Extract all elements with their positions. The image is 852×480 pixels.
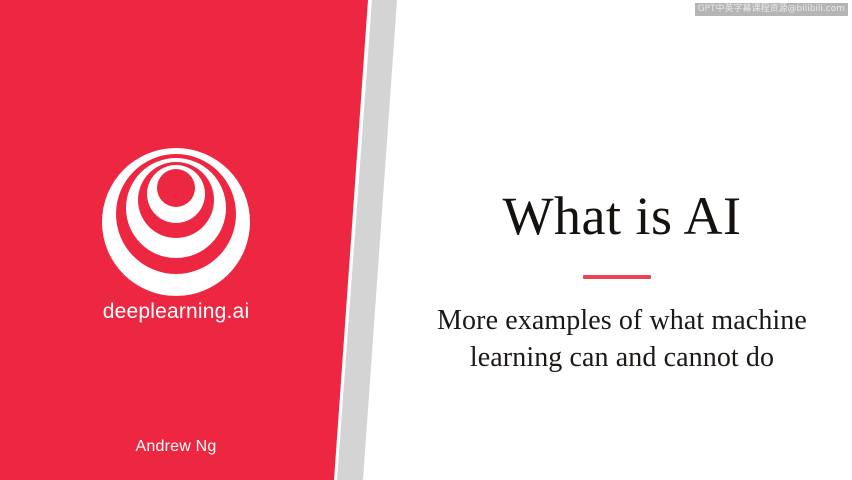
presenter-name: Andrew Ng — [0, 438, 352, 456]
slide-title: What is AI — [392, 188, 852, 245]
brand-panel: deeplearning.ai Andrew Ng — [0, 0, 352, 480]
presentation-slide: deeplearning.ai Andrew Ng What is AI Mor… — [0, 0, 852, 480]
deeplearning-ai-logo-icon — [96, 146, 256, 298]
watermark-label: GPT中英字幕课程资源@bilibili.com — [695, 3, 848, 16]
slide-subtitle: More examples of what machine learning c… — [390, 302, 852, 376]
title-divider-rule — [583, 275, 651, 279]
content-panel: What is AI More examples of what machine… — [392, 0, 852, 480]
brand-name: deeplearning.ai — [0, 300, 352, 324]
